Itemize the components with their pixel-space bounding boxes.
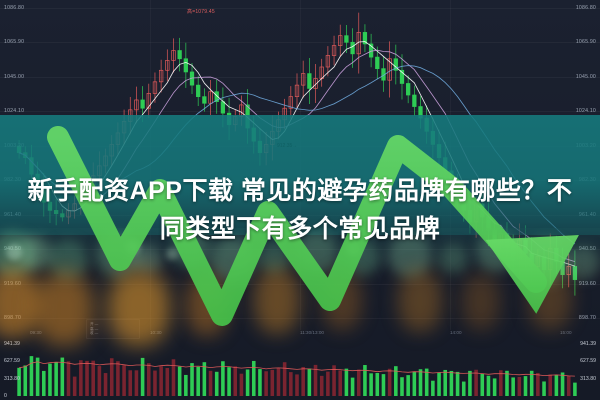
headline-line-2: 同类型下有多个常见品牌 <box>0 210 600 248</box>
page-title: 新手配资APP下载 常见的避孕药品牌有哪些？不 同类型下有多个常见品牌 <box>0 172 600 248</box>
screenshot-root: 1086.801065.901045.001024.101003.20982.3… <box>0 0 600 400</box>
headline-line-1: 新手配资APP下载 常见的避孕药品牌有哪些？不 <box>0 172 600 210</box>
